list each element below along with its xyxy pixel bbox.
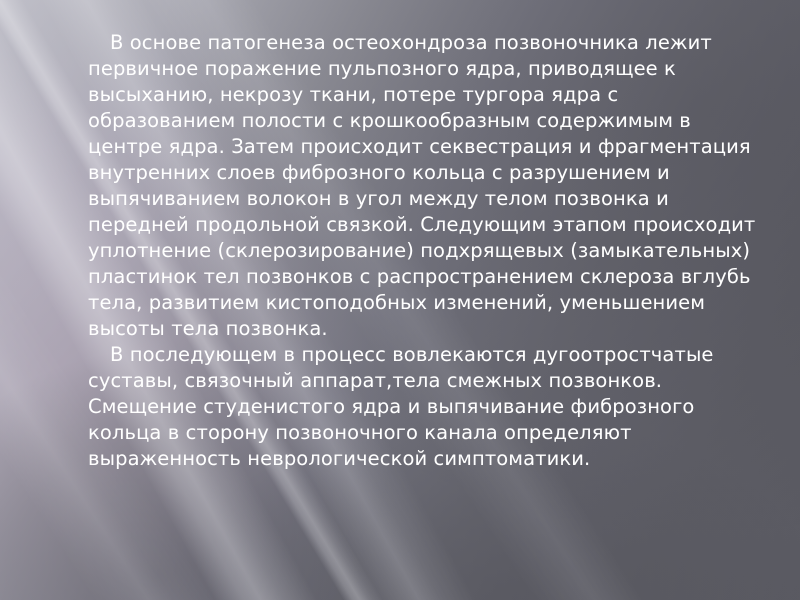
slide-canvas: В основе патогенеза остеохондроза позвон… (0, 0, 800, 600)
body-paragraph-1: В основе патогенеза остеохондроза позвон… (88, 30, 760, 342)
slide-text-body: В основе патогенеза остеохондроза позвон… (88, 30, 760, 472)
body-paragraph-2: В последующем в процесс вовлекаются дуго… (88, 342, 760, 472)
